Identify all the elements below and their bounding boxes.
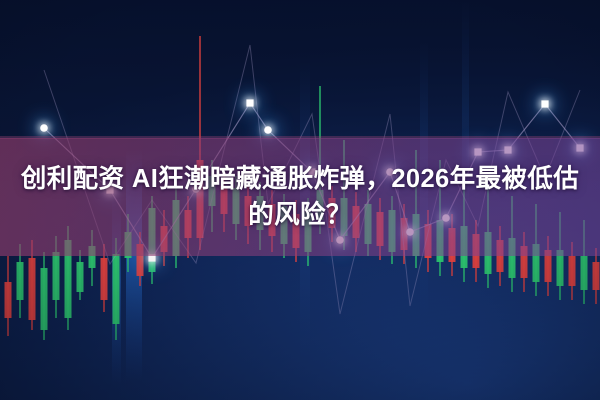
headline-container: 创利配资 AI狂潮暗藏通胀炸弹，2026年最被低估的风险？ [0,138,600,256]
page-title: 创利配资 AI狂潮暗藏通胀炸弹，2026年最被低估的风险？ [10,161,590,233]
banner-image: 创利配资 AI狂潮暗藏通胀炸弹，2026年最被低估的风险？ [0,0,600,400]
